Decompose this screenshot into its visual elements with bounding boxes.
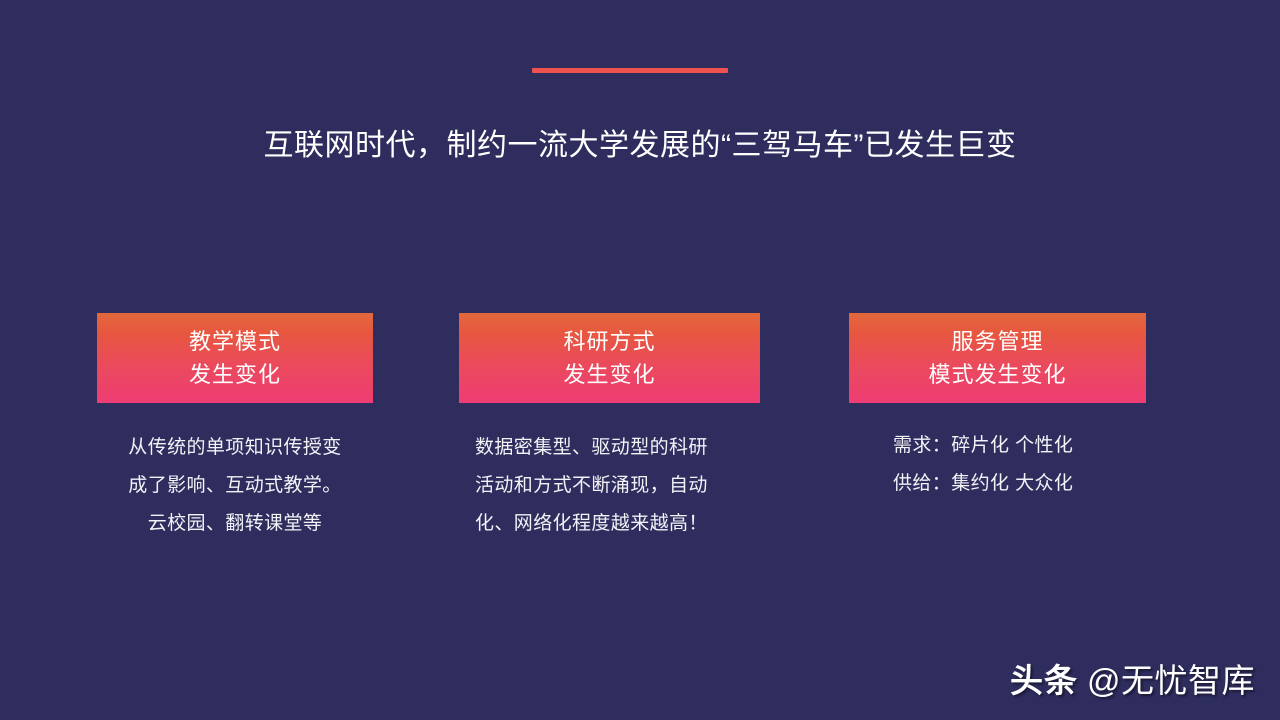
card-title-line-1: 科研方式	[563, 325, 655, 358]
body-line: 云校园、翻转课堂等	[97, 505, 373, 543]
card-title-line-2: 发生变化	[563, 358, 655, 391]
card-title-line-1: 教学模式	[189, 325, 281, 358]
card-title-line-2: 发生变化	[189, 358, 281, 391]
watermark-handle: @无忧智库	[1087, 654, 1255, 702]
card-body-3: 需求：碎片化 个性化 供给：集约化 大众化	[849, 427, 1146, 503]
body-line: 数据密集型、驱动型的科研	[475, 429, 760, 467]
body-line: 活动和方式不断涌现，自动	[475, 467, 760, 505]
body-line: 成了影响、互动式教学。	[97, 467, 373, 505]
card-body-1: 从传统的单项知识传授变 成了影响、互动式教学。 云校园、翻转课堂等	[97, 429, 373, 543]
card-header-2: 科研方式 发生变化	[459, 313, 760, 403]
body-line: 从传统的单项知识传授变	[97, 429, 373, 467]
title-accent-bar	[532, 68, 728, 73]
card-title-line-2: 模式发生变化	[928, 358, 1066, 391]
body-line: 化、网络化程度越来越高！	[475, 505, 760, 543]
body-line: 需求：碎片化 个性化	[893, 427, 1146, 465]
card-header-1: 教学模式 发生变化	[97, 313, 373, 403]
content-column-1: 教学模式 发生变化 从传统的单项知识传授变 成了影响、互动式教学。 云校园、翻转…	[97, 313, 373, 543]
page-title: 互联网时代，制约一流大学发展的“三驾马车”已发生巨变	[0, 123, 1280, 169]
body-line: 供给：集约化 大众化	[893, 465, 1146, 503]
content-column-2: 科研方式 发生变化 数据密集型、驱动型的科研 活动和方式不断涌现，自动 化、网络…	[459, 313, 760, 543]
card-body-2: 数据密集型、驱动型的科研 活动和方式不断涌现，自动 化、网络化程度越来越高！	[459, 429, 760, 543]
content-column-3: 服务管理 模式发生变化 需求：碎片化 个性化 供给：集约化 大众化	[849, 313, 1146, 503]
slide-canvas: 互联网时代，制约一流大学发展的“三驾马车”已发生巨变 教学模式 发生变化 从传统…	[0, 0, 1280, 720]
card-header-3: 服务管理 模式发生变化	[849, 313, 1146, 403]
watermark: 头条 @无忧智库	[1010, 654, 1255, 702]
content-columns: 教学模式 发生变化 从传统的单项知识传授变 成了影响、互动式教学。 云校园、翻转…	[0, 313, 1280, 573]
watermark-brand: 头条	[1010, 654, 1078, 702]
card-title-line-1: 服务管理	[951, 325, 1043, 358]
